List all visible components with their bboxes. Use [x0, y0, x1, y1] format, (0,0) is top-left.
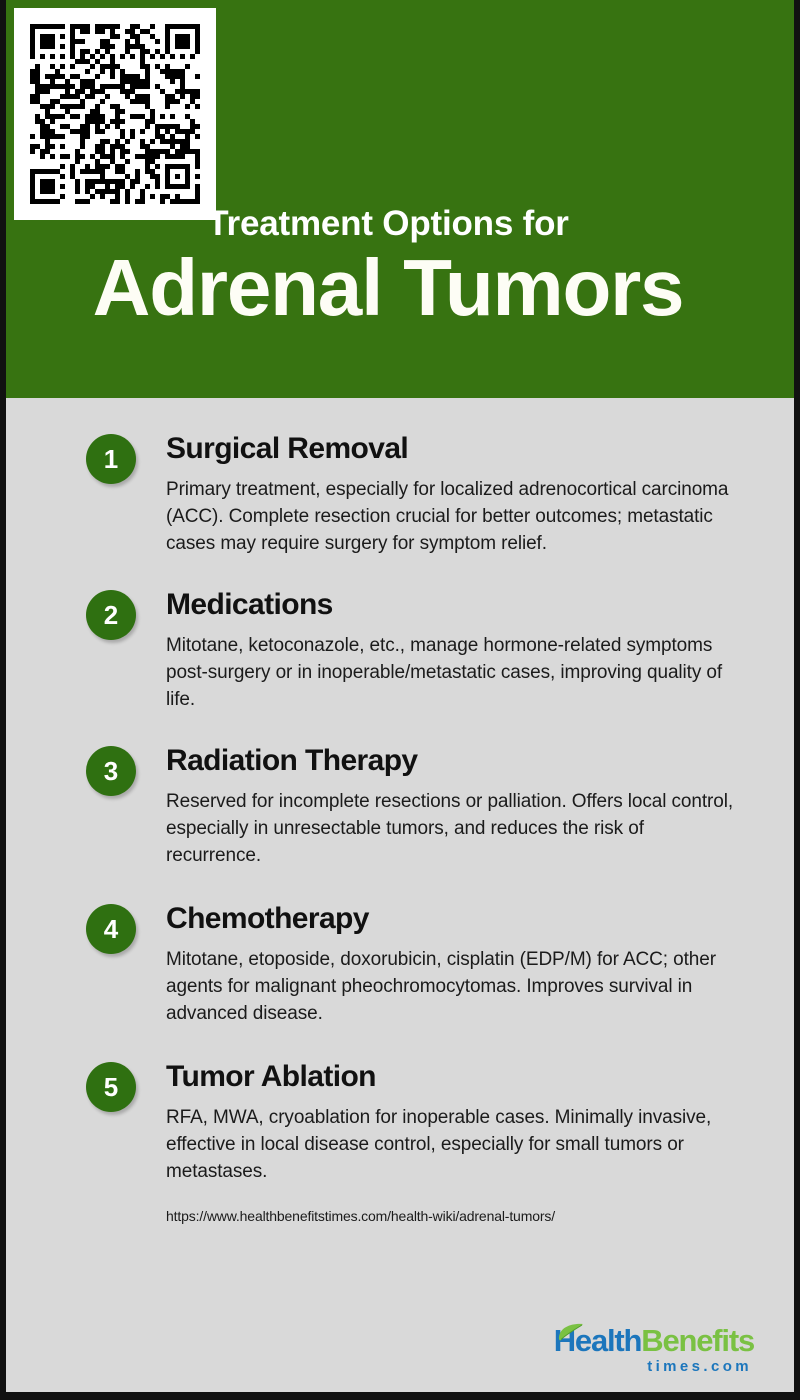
qr-code[interactable]: [14, 8, 216, 220]
list-item: 3 Radiation Therapy Reserved for incompl…: [6, 744, 794, 870]
item-description: Primary treatment, especially for locali…: [166, 477, 738, 558]
site-logo[interactable]: HealthBenefits times.com: [554, 1325, 754, 1374]
logo-wordmark: HealthBenefits: [554, 1325, 754, 1356]
item-number-badge: 3: [86, 746, 136, 796]
item-title: Chemotherapy: [166, 902, 738, 947]
list-item: 2 Medications Mitotane, ketoconazole, et…: [6, 588, 794, 714]
logo-benefits-text: Benefits: [641, 1323, 754, 1358]
infographic-poster: Treatment Options for Adrenal Tumors 1 S…: [0, 0, 800, 1400]
treatment-options-list: 1 Surgical Removal Primary treatment, es…: [6, 398, 794, 1224]
logo-domain-text: times.com: [554, 1359, 752, 1374]
title-block: Treatment Options for Adrenal Tumors: [78, 206, 698, 328]
item-title: Radiation Therapy: [166, 744, 738, 789]
item-description: RFA, MWA, cryoablation for inoperable ca…: [166, 1105, 738, 1186]
page-title: Adrenal Tumors: [78, 247, 698, 329]
item-body: Tumor Ablation RFA, MWA, cryoablation fo…: [166, 1060, 738, 1186]
poster-eyebrow: Treatment Options for: [78, 206, 698, 243]
list-item: 4 Chemotherapy Mitotane, etoposide, doxo…: [6, 902, 794, 1028]
poster-header: Treatment Options for Adrenal Tumors: [6, 0, 794, 398]
list-item: 5 Tumor Ablation RFA, MWA, cryoablation …: [6, 1060, 794, 1186]
item-body: Chemotherapy Mitotane, etoposide, doxoru…: [166, 902, 738, 1028]
item-description: Mitotane, etoposide, doxorubicin, cispla…: [166, 947, 738, 1028]
item-body: Medications Mitotane, ketoconazole, etc.…: [166, 588, 738, 714]
item-number-badge: 1: [86, 434, 136, 484]
item-title: Surgical Removal: [166, 432, 738, 477]
item-description: Reserved for incomplete resections or pa…: [166, 789, 738, 870]
list-item: 1 Surgical Removal Primary treatment, es…: [6, 432, 794, 558]
item-number-badge: 5: [86, 1062, 136, 1112]
item-number-badge: 4: [86, 904, 136, 954]
leaf-icon: [558, 1323, 584, 1341]
item-title: Tumor Ablation: [166, 1060, 738, 1105]
item-description: Mitotane, ketoconazole, etc., manage hor…: [166, 633, 738, 714]
item-body: Radiation Therapy Reserved for incomplet…: [166, 744, 738, 870]
qr-code-canvas: [20, 14, 210, 214]
item-body: Surgical Removal Primary treatment, espe…: [166, 432, 738, 558]
item-title: Medications: [166, 588, 738, 633]
item-number-badge: 2: [86, 590, 136, 640]
source-url[interactable]: https://www.healthbenefitstimes.com/heal…: [166, 1208, 794, 1224]
